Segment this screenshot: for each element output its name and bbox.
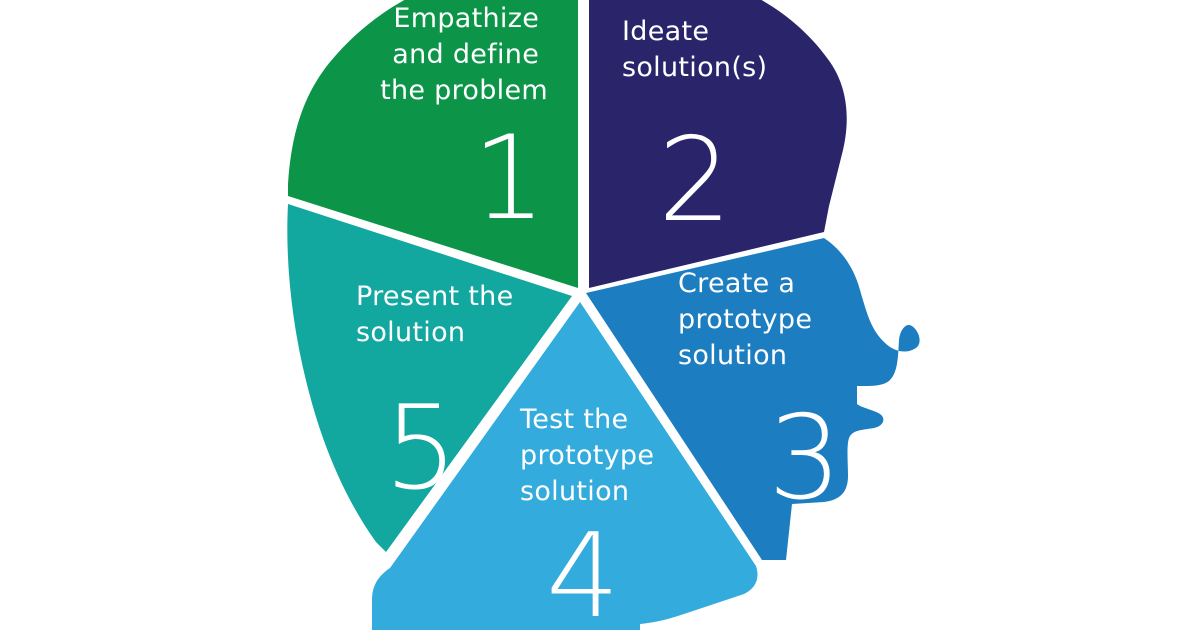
design-thinking-head-diagram: Empathize and define the problem 1 Ideat…	[0, 0, 1200, 630]
segment-5-number: 5	[384, 381, 458, 516]
segment-1-number: 1	[472, 111, 546, 246]
diagram-canvas: Empathize and define the problem 1 Ideat…	[0, 0, 1200, 630]
segment-2-number: 2	[658, 113, 732, 248]
segment-4-number: 4	[546, 509, 620, 630]
segment-3-number: 3	[768, 391, 842, 526]
segment-1-label: Empathize and define the problem	[380, 3, 548, 106]
